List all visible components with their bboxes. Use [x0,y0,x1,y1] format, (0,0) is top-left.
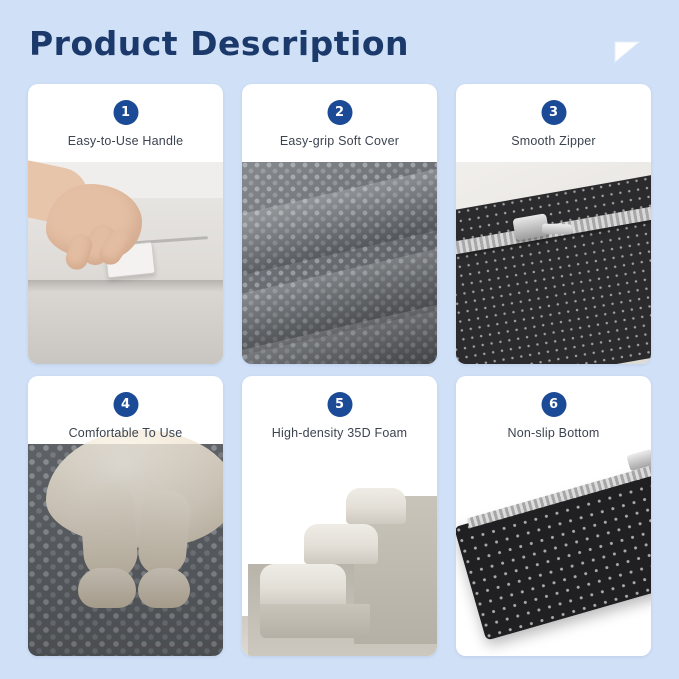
feature-badge-3: 3 [541,100,566,125]
feature-card-4[interactable]: 4 Comfortable To Use [28,376,223,656]
feature-badge-5: 5 [327,392,352,417]
feature-card-grid: 1 Easy-to-Use Handle 2 Easy-grip Soft Co… [28,84,651,656]
feature-image-4 [28,444,223,656]
feature-caption-5: High-density 35D Foam [242,426,437,440]
feature-badge-1: 1 [113,100,138,125]
feature-caption-3: Smooth Zipper [456,134,651,148]
product-description-page: Product Description 1 Easy-to-Use Handle [0,0,679,679]
feature-image-5 [242,444,437,656]
feature-caption-4: Comfortable To Use [28,426,223,440]
feature-card-2[interactable]: 2 Easy-grip Soft Cover [242,84,437,364]
page-title: Product Description [29,24,409,63]
feature-badge-4: 4 [113,392,138,417]
feature-image-6 [456,444,651,656]
feature-image-2 [242,162,437,364]
feature-card-3[interactable]: 3 Smooth Zipper [456,84,651,364]
feature-image-1 [28,162,223,364]
feature-image-3 [456,162,651,364]
feature-badge-6: 6 [541,392,566,417]
feature-caption-1: Easy-to-Use Handle [28,134,223,148]
feature-card-5[interactable]: 5 High-density 35D Foam [242,376,437,656]
feature-caption-6: Non-slip Bottom [456,426,651,440]
feature-caption-2: Easy-grip Soft Cover [242,134,437,148]
feature-badge-2: 2 [327,100,352,125]
page-corner-fold-icon [613,40,641,64]
feature-card-1[interactable]: 1 Easy-to-Use Handle [28,84,223,364]
feature-card-6[interactable]: 6 Non-slip Bottom [456,376,651,656]
